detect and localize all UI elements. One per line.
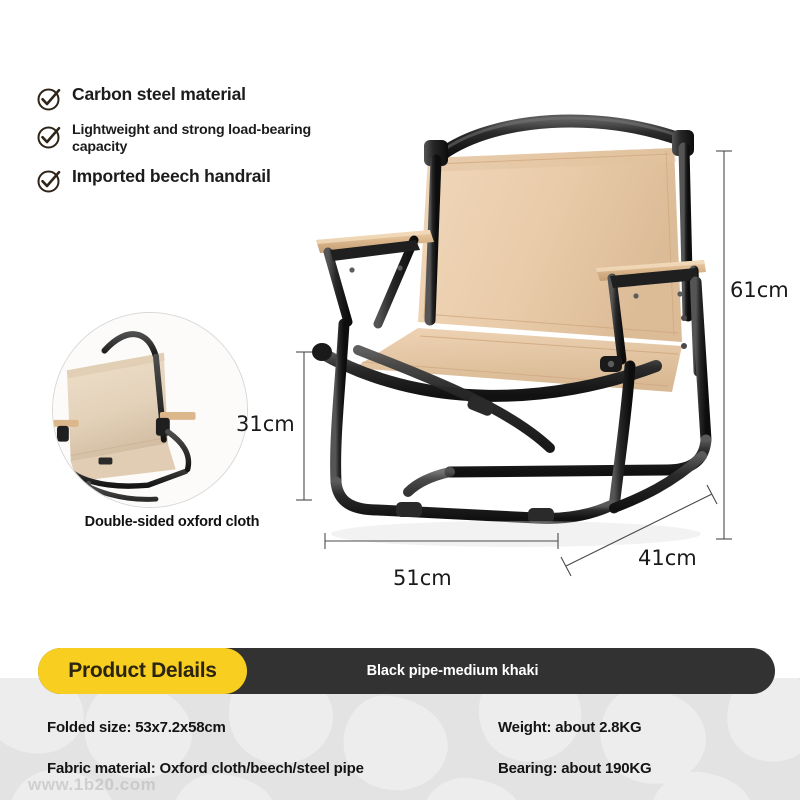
product-details-badge-label: Product Delails [68, 659, 216, 683]
feature-label: Imported beech handrail [72, 166, 271, 187]
inset-circle-frame [52, 312, 248, 508]
product-detail-page: Carbon steel material Lightweight and st… [0, 0, 800, 800]
feature-item: Imported beech handrail [36, 166, 326, 194]
spec-weight: Weight: about 2.8KG [498, 719, 641, 736]
check-circle-icon [36, 124, 62, 150]
check-circle-icon [36, 168, 62, 194]
feature-item: Carbon steel material [36, 84, 326, 112]
dimension-label-total-height: 61cm [730, 278, 789, 302]
product-details-badge: Product Delails [38, 648, 247, 694]
feature-label: Lightweight and strong load-bearing capa… [72, 122, 326, 156]
inset-caption: Double-sided oxford cloth [42, 514, 302, 530]
inset-folded-chair: Double-sided oxford cloth [52, 312, 248, 508]
variant-label: Black pipe-medium khaki [367, 663, 539, 679]
feature-list: Carbon steel material Lightweight and st… [36, 84, 326, 204]
product-image [300, 110, 720, 570]
feature-label: Carbon steel material [72, 84, 246, 105]
spec-folded-size: Folded size: 53x7.2x58cm [47, 719, 226, 736]
product-details-bar: Black pipe-medium khaki Product Delails [38, 648, 775, 694]
spec-bearing: Bearing: about 190KG [498, 760, 652, 777]
feature-item: Lightweight and strong load-bearing capa… [36, 122, 326, 156]
watermark: www.1b20.com [28, 775, 156, 795]
check-circle-icon [36, 86, 62, 112]
